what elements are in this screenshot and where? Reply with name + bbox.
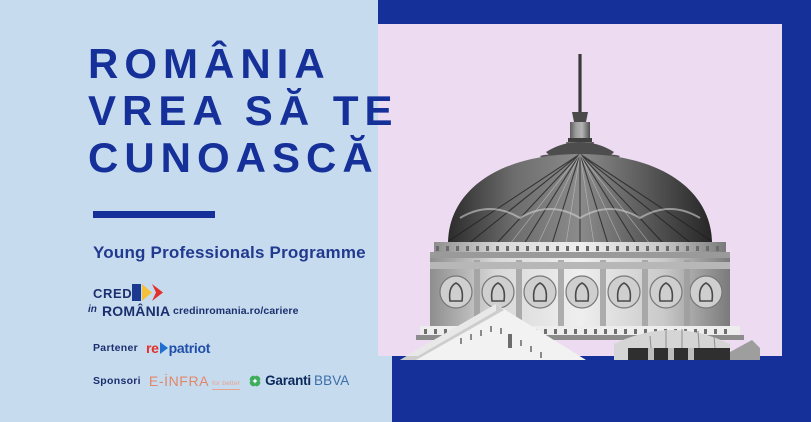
einfra-name: E-İNFRA	[149, 374, 209, 388]
repatriot-arrow-icon	[160, 342, 168, 354]
cred-logo-country: ROMÂNIA	[102, 303, 170, 319]
cred-arrow-icon	[132, 283, 164, 302]
cred-logo-in: in	[88, 304, 97, 315]
cred-url[interactable]: credinromania.ro/cariere	[173, 291, 299, 317]
sponsors-label: Sponsori	[93, 375, 141, 387]
einfra-logo[interactable]: E-İNFRA for better	[149, 374, 240, 388]
light-blue-notch	[378, 356, 392, 422]
repatriot-logo[interactable]: re patriot	[146, 341, 210, 355]
divider-rule	[93, 211, 215, 218]
garanti-bbva-logo[interactable]: Garanti BBVA	[248, 373, 349, 388]
einfra-tagline: for better	[212, 380, 240, 388]
repatriot-patriot: patriot	[169, 341, 210, 355]
cred-logo-row: CRED in ROMÂNIA credinromania.ro/cariere	[88, 283, 299, 325]
page-title: ROMÂNIA VREA SĂ TE CUNOASCĂ	[88, 40, 728, 181]
headline-line-3: CUNOASCĂ	[88, 134, 728, 181]
garanti-bbva-name: BBVA	[314, 373, 349, 388]
headline-line-1: ROMÂNIA	[88, 40, 728, 87]
repatriot-re: re	[146, 341, 159, 355]
garanti-name: Garanti	[265, 373, 311, 388]
cred-in-romania-logo[interactable]: CRED in ROMÂNIA	[88, 283, 164, 325]
cred-logo-word: CRED	[93, 286, 132, 301]
subtitle: Young Professionals Programme	[93, 243, 366, 263]
headline-line-2: VREA SĂ TE	[88, 87, 728, 134]
partner-row: Partener re patriot	[93, 341, 210, 355]
poster-canvas: ROMÂNIA VREA SĂ TE CUNOASCĂ Young Profes…	[0, 0, 811, 422]
partner-label: Partener	[93, 342, 138, 354]
garanti-clover-icon	[248, 374, 262, 388]
sponsors-row: Sponsori E-İNFRA for better Garanti BBVA	[93, 373, 349, 388]
